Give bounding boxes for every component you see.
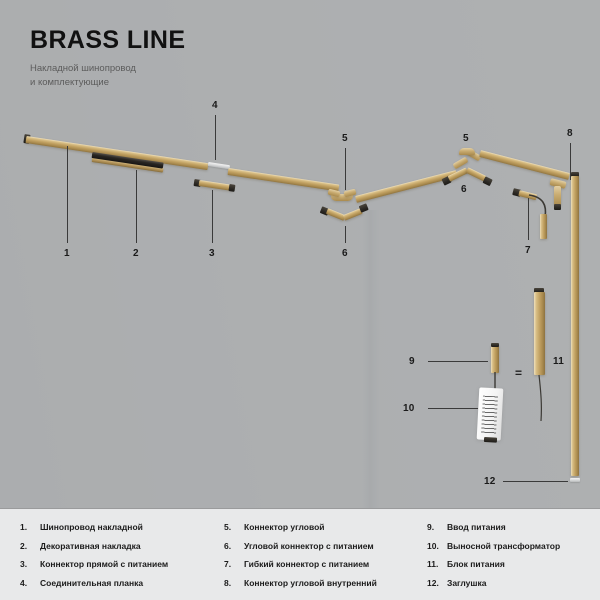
legend-item: 6. Угловой коннектор с питанием [224,541,377,551]
legend-item: 3. Коннектор прямой с питанием [20,559,168,569]
legend-item-number: 5. [224,522,244,532]
legend-item-label: Декоративная накладка [40,541,141,551]
legend-item-label: Коннектор угловой внутренний [244,578,377,588]
legend-item-label: Шинопровод накладной [40,522,143,532]
legend-item: 8. Коннектор угловой внутренний [224,578,377,588]
internal-corner-connector-8-endcap [554,204,561,210]
subtitle-line-2: и комплектующие [30,77,109,88]
luminaire-11-body [571,176,579,476]
legend-item-label: Коннектор угловой [244,522,325,532]
legend-column-2: 5. Коннектор угловой 6. Угловой коннекто… [224,522,377,596]
legend-item: 11. Блок питания [427,559,560,569]
callout-number-10: 10 [403,403,415,414]
legend-item-label: Выносной трансформатор [447,541,560,551]
callout-number-2: 2 [133,248,139,259]
leader-line-9 [428,361,488,362]
leader-line-10 [428,408,478,409]
legend-item-number: 2. [20,541,40,551]
legend-item-label: Ввод питания [447,522,506,532]
callout-number-1: 1 [64,248,70,259]
leader-line-8 [570,143,571,180]
internal-corner-connector-8-vert [554,186,561,206]
legend-item-number: 4. [20,578,40,588]
callout-number-5b: 5 [463,133,469,144]
callout-number-11: 11 [553,356,564,367]
corner-connector-5b-apex [459,148,475,155]
callout-number-7: 7 [525,245,531,256]
legend-item: 10. Выносной трансформатор [427,541,560,551]
legend-item-label: Соединительная планка [40,578,143,588]
flex-connector-7-tail [540,214,547,239]
legend-item-label: Блок питания [447,559,505,569]
leader-line-5a [345,148,346,190]
legend-panel: 1. Шинопровод накладной 2. Декоративная … [0,509,600,600]
legend-item-number: 12. [427,578,447,588]
leader-line-6a [345,226,346,243]
legend-item-number: 9. [427,522,447,532]
legend-item: 2. Декоративная накладка [20,541,168,551]
leader-line-4 [215,115,216,160]
legend-item: 1. Шинопровод накладной [20,522,168,532]
legend-item-label: Угловой коннектор с питанием [244,541,374,551]
product-diagram-page: = 1 2 3 4 5 6 5 6 7 8 9 10 11 12 BRASS L… [0,0,600,600]
luminaire-11-sample-wire [538,375,546,425]
leader-line-3 [212,190,213,243]
legend-item-number: 11. [427,559,447,569]
equals-sign: = [515,366,522,380]
leader-line-2 [136,170,137,243]
callout-number-8: 8 [567,128,573,139]
power-input-9-body [491,345,499,373]
legend-item: 4. Соединительная планка [20,578,168,588]
legend-column-3: 9. Ввод питания 10. Выносной трансформат… [427,522,560,596]
transformer-10-label-print [481,396,498,435]
leader-line-7 [528,198,529,240]
callout-number-4: 4 [212,100,218,111]
legend-item-label: Коннектор прямой с питанием [40,559,168,569]
legend-item-number: 7. [224,559,244,569]
callout-number-9: 9 [409,356,415,367]
header-block: BRASS LINE Накладной шинопровод и компле… [30,28,185,91]
callout-number-5a: 5 [342,133,348,144]
callout-number-3: 3 [209,248,215,259]
legend-item-number: 10. [427,541,447,551]
power-input-9-cap [491,343,499,347]
callout-number-12: 12 [484,476,496,487]
transformer-10-connector [484,437,497,443]
page-subtitle: Накладной шинопровод и комплектующие [30,62,185,91]
leader-line-1 [67,146,68,243]
page-title: BRASS LINE [30,28,185,53]
legend-item: 9. Ввод питания [427,522,560,532]
legend-item-label: Заглушка [447,578,486,588]
legend-item-number: 1. [20,522,40,532]
legend-column-1: 1. Шинопровод накладной 2. Декоративная … [20,522,168,596]
legend-item: 7. Гибкий коннектор с питанием [224,559,377,569]
legend-item-number: 3. [20,559,40,569]
subtitle-line-1: Накладной шинопровод [30,63,136,74]
callout-number-6a: 6 [342,248,348,259]
legend-item-number: 6. [224,541,244,551]
scene-illustration: = 1 2 3 4 5 6 5 6 7 8 9 10 11 12 BRASS L… [0,0,600,508]
legend-item-label: Гибкий коннектор с питанием [244,559,369,569]
end-cap-12 [570,478,580,482]
legend-item-number: 8. [224,578,244,588]
connector-3-endcap-right [228,184,235,192]
luminaire-11-sample-body [534,292,545,375]
leader-line-12 [503,481,568,482]
legend-item: 12. Заглушка [427,578,560,588]
callout-number-6b: 6 [461,184,467,195]
legend-item: 5. Коннектор угловой [224,522,377,532]
